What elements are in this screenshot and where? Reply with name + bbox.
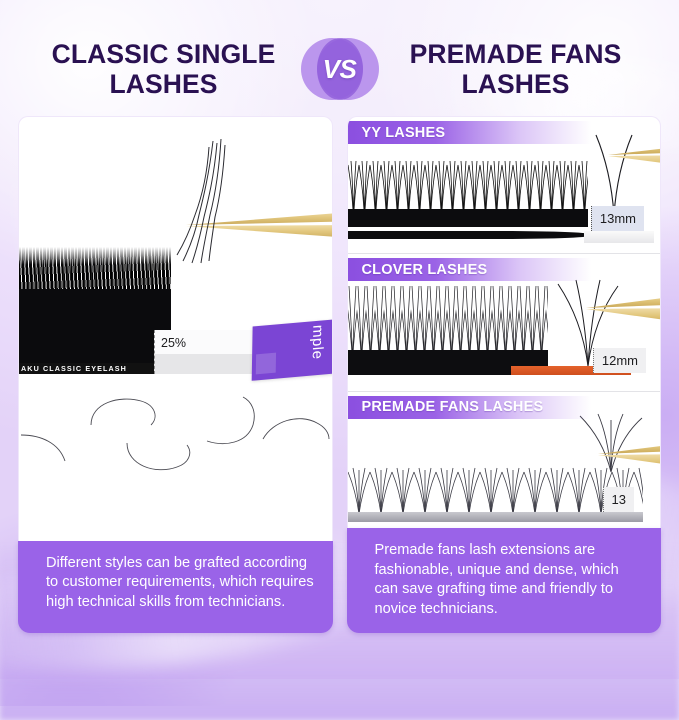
classic-caption: Different styles can be grafted accordin… — [18, 541, 333, 633]
premade-fans-lashes-column: 13mm YY LASHES — [347, 116, 662, 633]
yy-tray-strip — [584, 231, 654, 243]
vs-badge: VS — [301, 34, 379, 104]
section-header-clover: CLOVER LASHES — [348, 258, 661, 281]
vs-label: VS — [301, 34, 379, 104]
section-title-clover: CLOVER LASHES — [348, 262, 488, 278]
section-header-yy: YY LASHES — [348, 121, 661, 144]
premade-fans-photo-card: 13mm YY LASHES — [347, 116, 662, 528]
yy-tray-base — [348, 231, 590, 239]
classic-single-lashes-column: AKU CLASSIC EYELASH 25% mple Different s… — [18, 116, 333, 633]
brand-label: AKU CLASSIC EYELASH — [21, 363, 171, 374]
section-premade-fans-lashes: 13 PREMADE FANS LASHES — [348, 391, 661, 528]
yy-lash-tray-fans — [348, 149, 588, 227]
tweezer-icon — [584, 294, 661, 328]
section-header-premade: PREMADE FANS LASHES — [348, 396, 661, 419]
section-title-premade: PREMADE FANS LASHES — [348, 399, 544, 415]
comparison-columns: AKU CLASSIC EYELASH 25% mple Different s… — [18, 116, 661, 633]
section-title-yy: YY LASHES — [348, 125, 446, 141]
sticker-square — [255, 353, 275, 375]
clover-measure-chip: 12mm — [593, 348, 646, 373]
percent-label: 25% — [161, 336, 186, 350]
comparison-header: CLASSIC SINGLE LASHES VS PREMADE FANS LA… — [0, 28, 679, 110]
section-yy-lashes: 13mm YY LASHES — [348, 117, 661, 253]
classic-lashes-photo: AKU CLASSIC EYELASH 25% mple — [18, 116, 333, 541]
tweezer-icon — [596, 440, 661, 474]
lash-bundle-strands — [169, 137, 239, 267]
premade-tray-base — [348, 512, 643, 522]
sticker-text: mple — [308, 324, 326, 360]
tweezer-icon — [606, 141, 661, 175]
clover-lash-tray-fans — [348, 284, 548, 366]
premade-measure-chip: 13 — [603, 487, 634, 512]
left-title: CLASSIC SINGLE LASHES — [33, 39, 295, 99]
premade-caption: Premade fans lash extensions are fashion… — [347, 528, 662, 633]
classic-lash-fringe — [19, 247, 171, 293]
right-title: PREMADE FANS LASHES — [385, 39, 647, 99]
sample-sticker: mple — [251, 319, 332, 381]
yy-measure-chip: 13mm — [591, 206, 644, 231]
clover-tray-black — [348, 366, 513, 375]
section-clover-lashes: 12mm CLOVER LASHES — [348, 253, 661, 390]
loose-lashes-illustration — [19, 395, 331, 515]
classic-lash-strip — [19, 289, 171, 367]
